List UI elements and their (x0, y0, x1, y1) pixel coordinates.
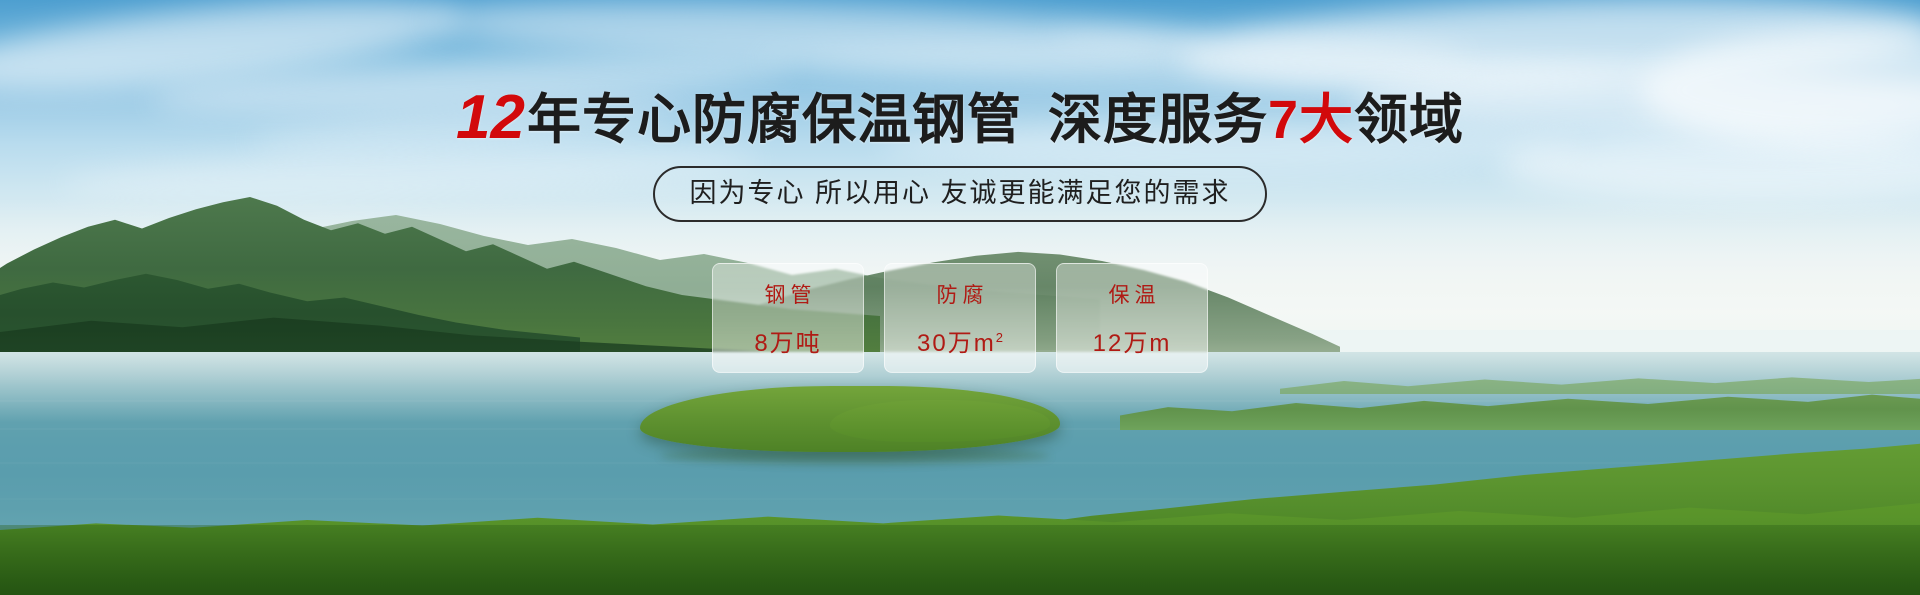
stat-card-value-text: 8万吨 (754, 330, 821, 357)
headline-highlight: 7大 (1268, 90, 1354, 150)
headline: 12年专心防腐保温钢管深度服务7大领域 (0, 88, 1920, 150)
stat-card-anticorrosion: 防腐 30万m2 (884, 263, 1036, 373)
stat-card-steel-pipe: 钢管 8万吨 (712, 263, 864, 373)
subtitle-container: 因为专心 所以用心 友诚更能满足您的需求 (0, 166, 1920, 222)
headline-part-two: 深度服务 (1048, 90, 1268, 150)
subtitle-pill: 因为专心 所以用心 友诚更能满足您的需求 (653, 166, 1266, 222)
headline-part-three: 领域 (1354, 90, 1464, 150)
stat-card-label: 防腐 (932, 279, 989, 309)
stat-card-value-superscript: 2 (996, 330, 1003, 345)
headline-years-number: 12 (456, 83, 527, 152)
stat-card-insulation: 保温 12万m (1056, 263, 1208, 373)
stat-card-value: 30万m2 (917, 323, 1003, 358)
stat-card-label: 保温 (1104, 279, 1161, 309)
stat-card-value: 8万吨 (754, 323, 821, 358)
stat-card-label: 钢管 (760, 279, 817, 309)
headline-part-one: 年专心防腐保温钢管 (527, 90, 1022, 150)
banner-content: 12年专心防腐保温钢管深度服务7大领域 因为专心 所以用心 友诚更能满足您的需求… (0, 0, 1920, 595)
hero-banner: 12年专心防腐保温钢管深度服务7大领域 因为专心 所以用心 友诚更能满足您的需求… (0, 0, 1920, 595)
stat-card-value-text: 30万m (917, 330, 996, 357)
stat-card-value-text: 12万m (1093, 330, 1172, 357)
stat-card-value: 12万m (1093, 323, 1172, 358)
stat-cards: 钢管 8万吨 防腐 30万m2 保温 12万m (0, 263, 1920, 373)
